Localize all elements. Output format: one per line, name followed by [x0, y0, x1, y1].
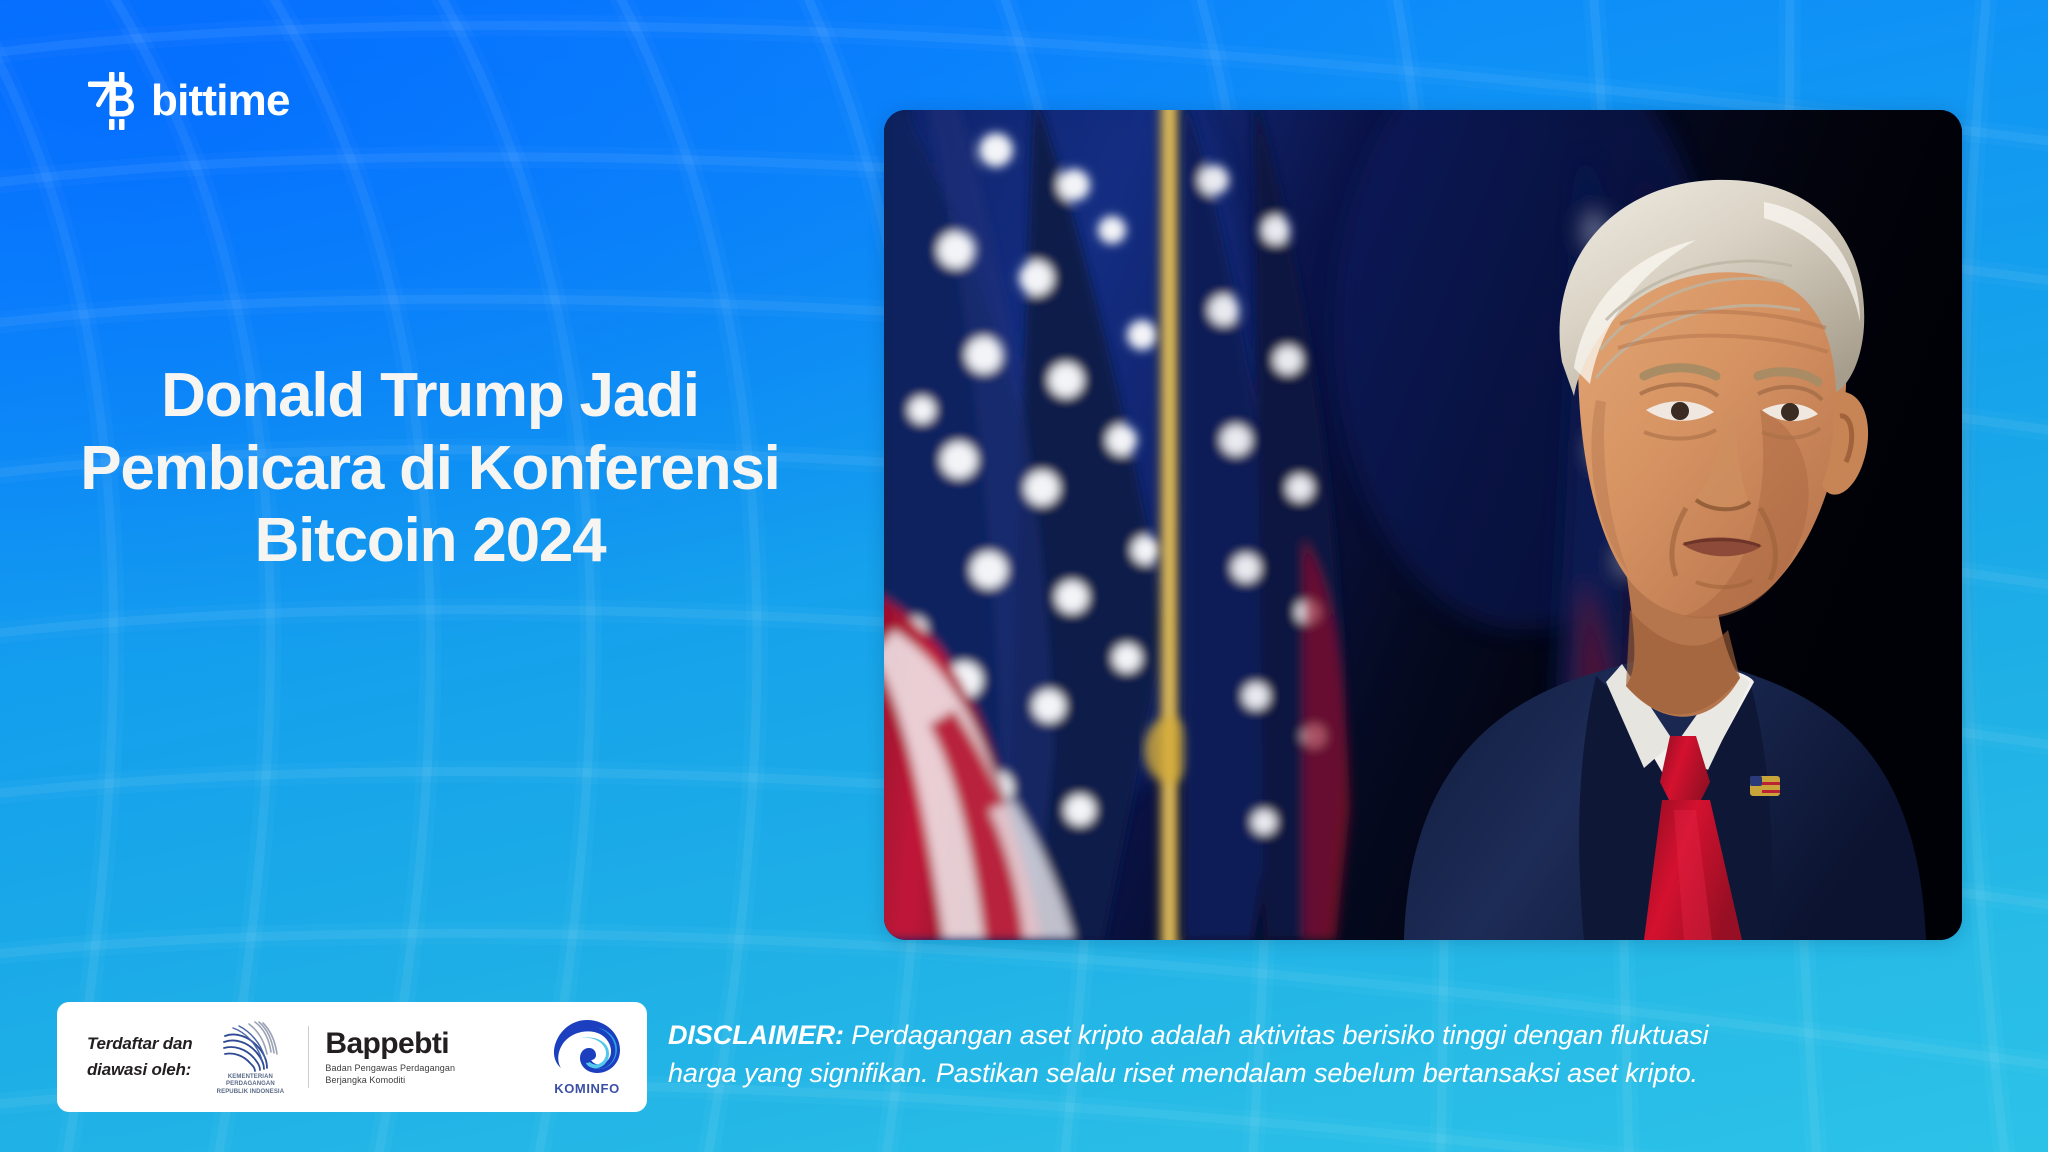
disclaimer-text: DISCLAIMER: Perdagangan aset kripto adal… [668, 1016, 1993, 1093]
headline-line-3: Bitcoin 2024 [28, 505, 832, 578]
disclaimer-line-2: harga yang signifikan. Pastikan selalu r… [668, 1054, 1993, 1092]
hero-photo [884, 110, 1962, 940]
page-title: Donald Trump Jadi Pembicara di Konferens… [0, 360, 860, 578]
kominfo-caption: KOMINFO [554, 1081, 620, 1096]
kominfo-wave-icon [551, 1018, 623, 1080]
headline-line-1: Donald Trump Jadi [28, 360, 832, 433]
disclaimer-body-1: Perdagangan aset kripto adalah aktivitas… [844, 1020, 1709, 1050]
headline-line-2: Pembicara di Konferensi [28, 433, 832, 506]
bittime-logo[interactable]: bittime [88, 72, 290, 130]
kemendag-logo: KEMENTERIAN PERDAGANGAN REPUBLIK INDONES… [208, 1018, 292, 1097]
bitcoin-b-icon [88, 72, 138, 130]
disclaimer-label: DISCLAIMER: [668, 1020, 844, 1050]
badge-divider [308, 1026, 309, 1088]
regulator-badge: Terdaftar dan diawasi oleh: [57, 1002, 647, 1112]
kemendag-caption-line-1: KEMENTERIAN [228, 1074, 273, 1080]
bappebti-subtitle-line-2: Berjangka Komoditi [325, 1075, 405, 1085]
kemendag-caption-line-2: PERDAGANGAN [226, 1081, 275, 1087]
bappebti-logo: Bappebti Badan Pengawas Perdagangan Berj… [325, 1028, 455, 1087]
kementerian-perdagangan-icon [219, 1018, 281, 1072]
bappebti-subtitle: Badan Pengawas Perdagangan Berjangka Kom… [325, 1062, 455, 1086]
badge-intro-text: Terdaftar dan diawasi oleh: [87, 1031, 192, 1084]
badge-intro-line-1: Terdaftar dan [87, 1031, 192, 1057]
badge-intro-line-2: diawasi oleh: [87, 1057, 192, 1083]
kominfo-logo: KOMINFO [551, 1018, 623, 1096]
bappebti-name: Bappebti [325, 1028, 455, 1060]
kemendag-caption-line-3: REPUBLIK INDONESIA [217, 1089, 284, 1095]
kemendag-caption: KEMENTERIAN PERDAGANGAN REPUBLIK INDONES… [217, 1074, 284, 1097]
bittime-wordmark: bittime [151, 79, 290, 123]
disclaimer-line-1: DISCLAIMER: Perdagangan aset kripto adal… [668, 1016, 1993, 1054]
bappebti-subtitle-line-1: Badan Pengawas Perdagangan [325, 1063, 455, 1073]
